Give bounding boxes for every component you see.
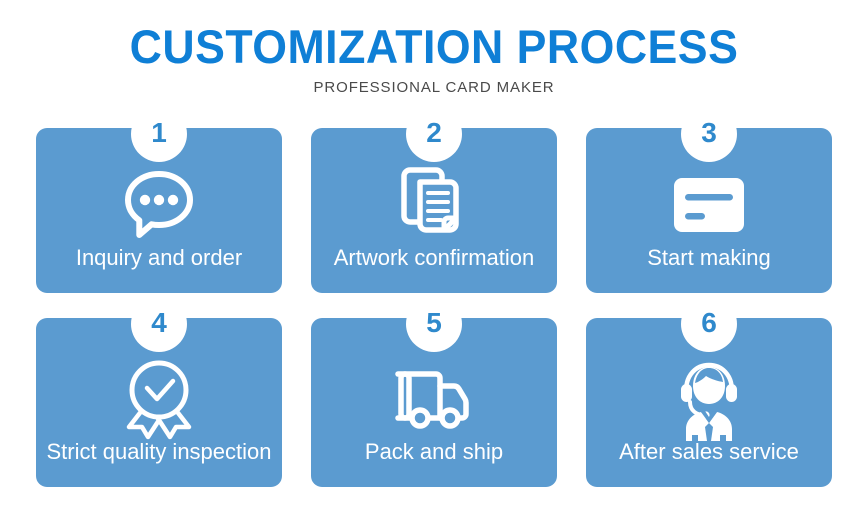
stacked-documents-icon [392, 166, 476, 244]
step-label-3: Start making [586, 245, 832, 293]
step-label-6: After sales service [586, 439, 832, 487]
step-number-1: 1 [151, 119, 167, 147]
step-number-badge-3: 3 [681, 106, 737, 162]
step-number-badge-2: 2 [406, 106, 462, 162]
process-step-card-1[interactable]: 1 Inquiry and order [36, 128, 282, 293]
step-number-3: 3 [701, 119, 717, 147]
step-number-2: 2 [426, 119, 442, 147]
page-subtitle: PROFESSIONAL CARD MAKER [0, 73, 868, 96]
headset-agent-icon [667, 358, 751, 440]
delivery-truck-icon [392, 358, 476, 440]
process-step-card-3[interactable]: 3 Start making [586, 128, 832, 293]
step-number-6: 6 [701, 309, 717, 337]
step-label-2: Artwork confirmation [311, 245, 557, 293]
step-number-5: 5 [426, 309, 442, 337]
step-number-badge-6: 6 [681, 296, 737, 352]
award-ribbon-check-icon [117, 358, 201, 440]
step-label-5: Pack and ship [311, 439, 557, 487]
customization-process-infographic: CUSTOMIZATION PROCESS PROFESSIONAL CARD … [0, 0, 868, 523]
speech-bubble-dots-icon [117, 166, 201, 244]
step-number-badge-5: 5 [406, 296, 462, 352]
process-step-card-2[interactable]: 2 Artwork confirmation [311, 128, 557, 293]
process-step-card-6[interactable]: 6 [586, 318, 832, 487]
step-label-1: Inquiry and order [36, 245, 282, 293]
page-title: CUSTOMIZATION PROCESS [22, 0, 847, 73]
step-number-4: 4 [151, 309, 167, 337]
step-number-badge-4: 4 [131, 296, 187, 352]
header: CUSTOMIZATION PROCESS PROFESSIONAL CARD … [0, 0, 868, 96]
process-steps-grid: 1 Inquiry and order 2 [36, 128, 832, 487]
process-step-card-5[interactable]: 5 Pack and ship [311, 318, 557, 487]
process-step-card-4[interactable]: 4 Strict quality inspection [36, 318, 282, 487]
step-number-badge-1: 1 [131, 106, 187, 162]
credit-card-icon [667, 166, 751, 244]
step-label-4: Strict quality inspection [36, 439, 282, 487]
